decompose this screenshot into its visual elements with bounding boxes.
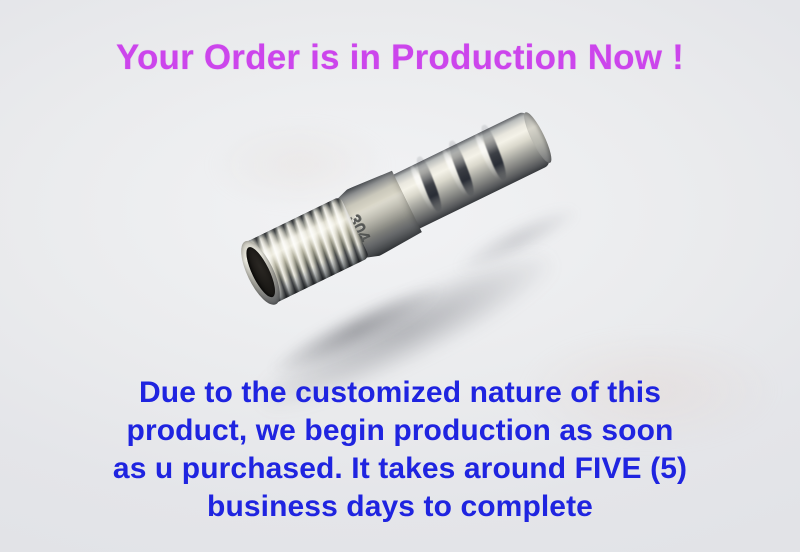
notice-line-1: Due to the customized nature of this xyxy=(0,374,800,412)
notice-line-4: business days to complete xyxy=(0,488,800,526)
production-notice: Due to the customized nature of this pro… xyxy=(0,374,800,526)
notice-line-2: product, we begin production as soon xyxy=(0,412,800,450)
notice-line-3: as u purchased. It takes around FIVE (5) xyxy=(0,450,800,488)
promo-banner: Your Order is in Production Now ! 304 xyxy=(0,0,800,552)
